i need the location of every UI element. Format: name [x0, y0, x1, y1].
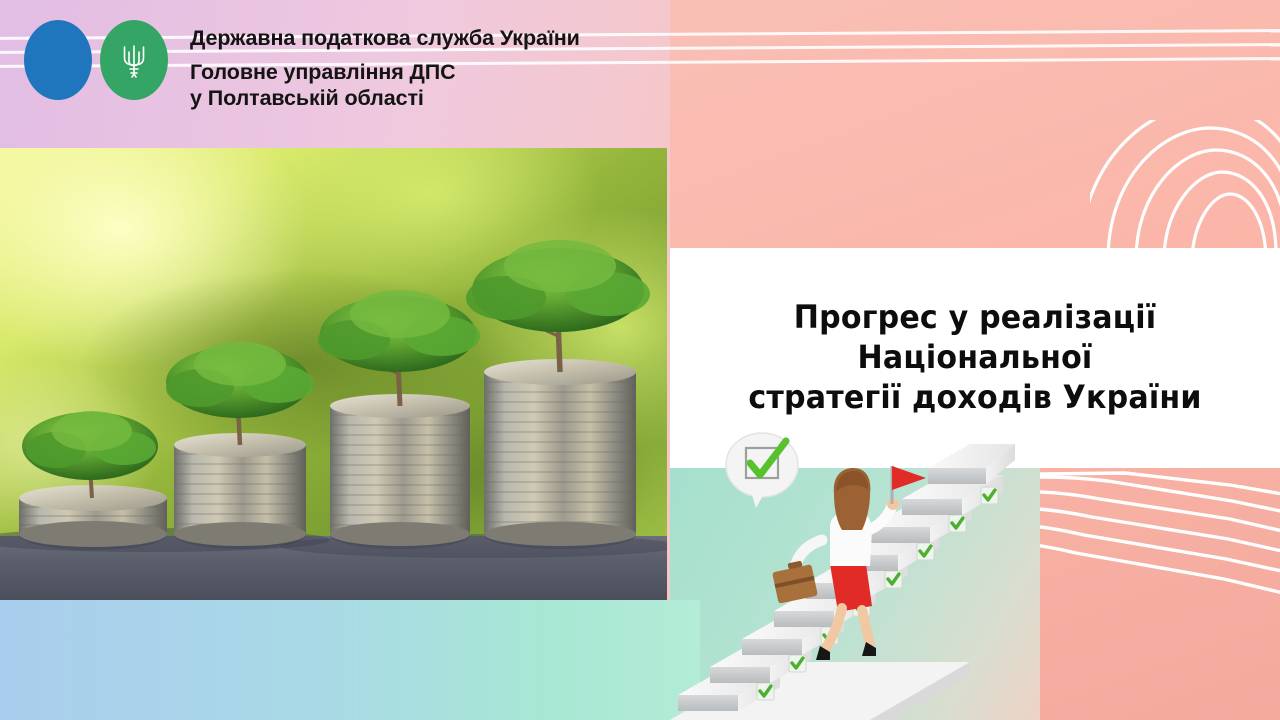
slide-title-line-1: Прогрес у реалізації Національної: [693, 298, 1257, 377]
org-department-line-2: у Полтавській області: [190, 86, 580, 112]
green-circle-icon: [100, 20, 168, 100]
bottom-left-gradient-band: [0, 600, 700, 720]
money-trees-photo: [0, 148, 667, 600]
org-department-line-1: Головне управління ДПС: [190, 60, 580, 86]
blue-circle-icon: [24, 20, 92, 100]
slide-title-line-2: стратегії доходів України: [693, 378, 1257, 418]
slide-canvas: Державна податкова служба України Головн…: [0, 0, 1280, 720]
speech-bubble-check-icon: [726, 433, 798, 508]
tryzub-icon: [119, 41, 149, 79]
organization-text: Державна податкова служба України Головн…: [190, 20, 580, 112]
slide-title: Прогрес у реалізації Національної страте…: [693, 298, 1257, 417]
decorative-arcs-top-right: [1090, 120, 1280, 255]
org-name-line: Державна податкова служба України: [190, 26, 580, 51]
stairs-illustration: [670, 430, 1015, 720]
organization-logo-block: Державна податкова служба України Головн…: [24, 20, 580, 112]
